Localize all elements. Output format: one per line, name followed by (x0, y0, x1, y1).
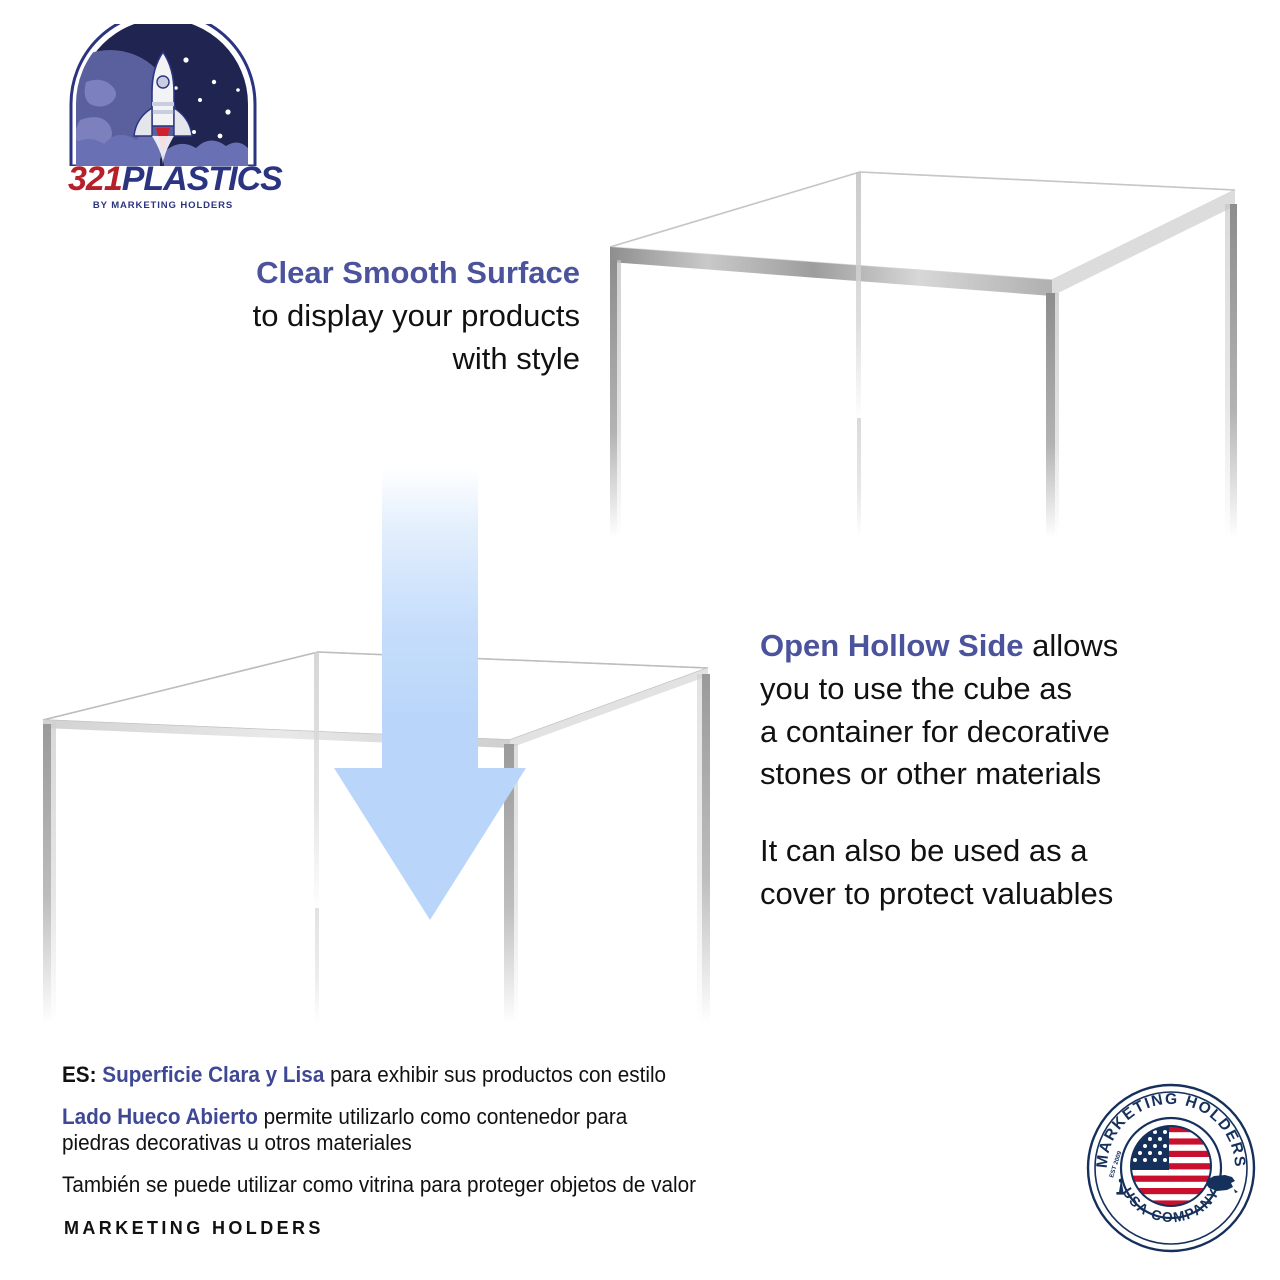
callout-right-para2-line1: It can also be used as a (760, 830, 1220, 873)
callout-open-hollow-side: Open Hollow Side allows you to use the c… (760, 625, 1220, 916)
downward-fill-arrow-icon (320, 468, 540, 938)
spanish-line-2-wrap: piedras decorativas u otros materiales (62, 1130, 412, 1155)
spanish-line-1-rest: para exhibir sus productos con estilo (324, 1062, 666, 1087)
spanish-language-tag: ES: (62, 1062, 97, 1087)
footer-brand-text: MARKETING HOLDERS (64, 1218, 324, 1239)
logo-word: PLASTICS (122, 160, 282, 198)
callout-right-highlight: Open Hollow Side (760, 628, 1024, 663)
spanish-line-3: También se puede utilizar como vitrina p… (62, 1172, 890, 1198)
callout-right-line4: stones or other materials (760, 753, 1220, 796)
usa-company-seal: MARKETING HOLDERS USA COMPANY EST 2009 (1085, 1082, 1257, 1254)
spanish-translation-block: ES: Superficie Clara y Lisa para exhibir… (62, 1062, 962, 1198)
spanish-line-2-highlight: Lado Hueco Abierto (62, 1104, 258, 1129)
infographic-canvas: 321PLASTICS BY MARKETING HOLDERS (0, 0, 1280, 1280)
logo-tagline: BY MARKETING HOLDERS (68, 200, 258, 211)
rocket-planet-icon (68, 24, 258, 166)
logo-wordmark: 321PLASTICS (68, 162, 258, 196)
callout-left-line2: to display your products (120, 295, 580, 338)
callout-right-line1-rest: allows (1024, 628, 1119, 663)
callout-right-line2: you to use the cube as (760, 668, 1220, 711)
logo-number: 321 (68, 160, 122, 198)
spanish-line-1: ES: Superficie Clara y Lisa para exhibir… (62, 1062, 890, 1088)
acrylic-cube-closed-top (580, 150, 1260, 550)
callout-right-para2-line2: cover to protect valuables (760, 873, 1220, 916)
callout-left-highlight: Clear Smooth Surface (256, 255, 580, 290)
spanish-line-2-rest: permite utilizarlo como contenedor para (258, 1104, 627, 1129)
spanish-line-2: Lado Hueco Abierto permite utilizarlo co… (62, 1104, 890, 1156)
callout-left-line1: Clear Smooth Surface (120, 252, 580, 295)
callout-right-line3: a container for decorative (760, 711, 1220, 754)
brand-logo: 321PLASTICS BY MARKETING HOLDERS (68, 24, 258, 204)
callout-clear-smooth-surface: Clear Smooth Surface to display your pro… (120, 252, 580, 380)
callout-left-line3: with style (120, 338, 580, 381)
spanish-line-1-highlight: Superficie Clara y Lisa (102, 1062, 324, 1087)
callout-right-line1: Open Hollow Side allows (760, 625, 1220, 668)
